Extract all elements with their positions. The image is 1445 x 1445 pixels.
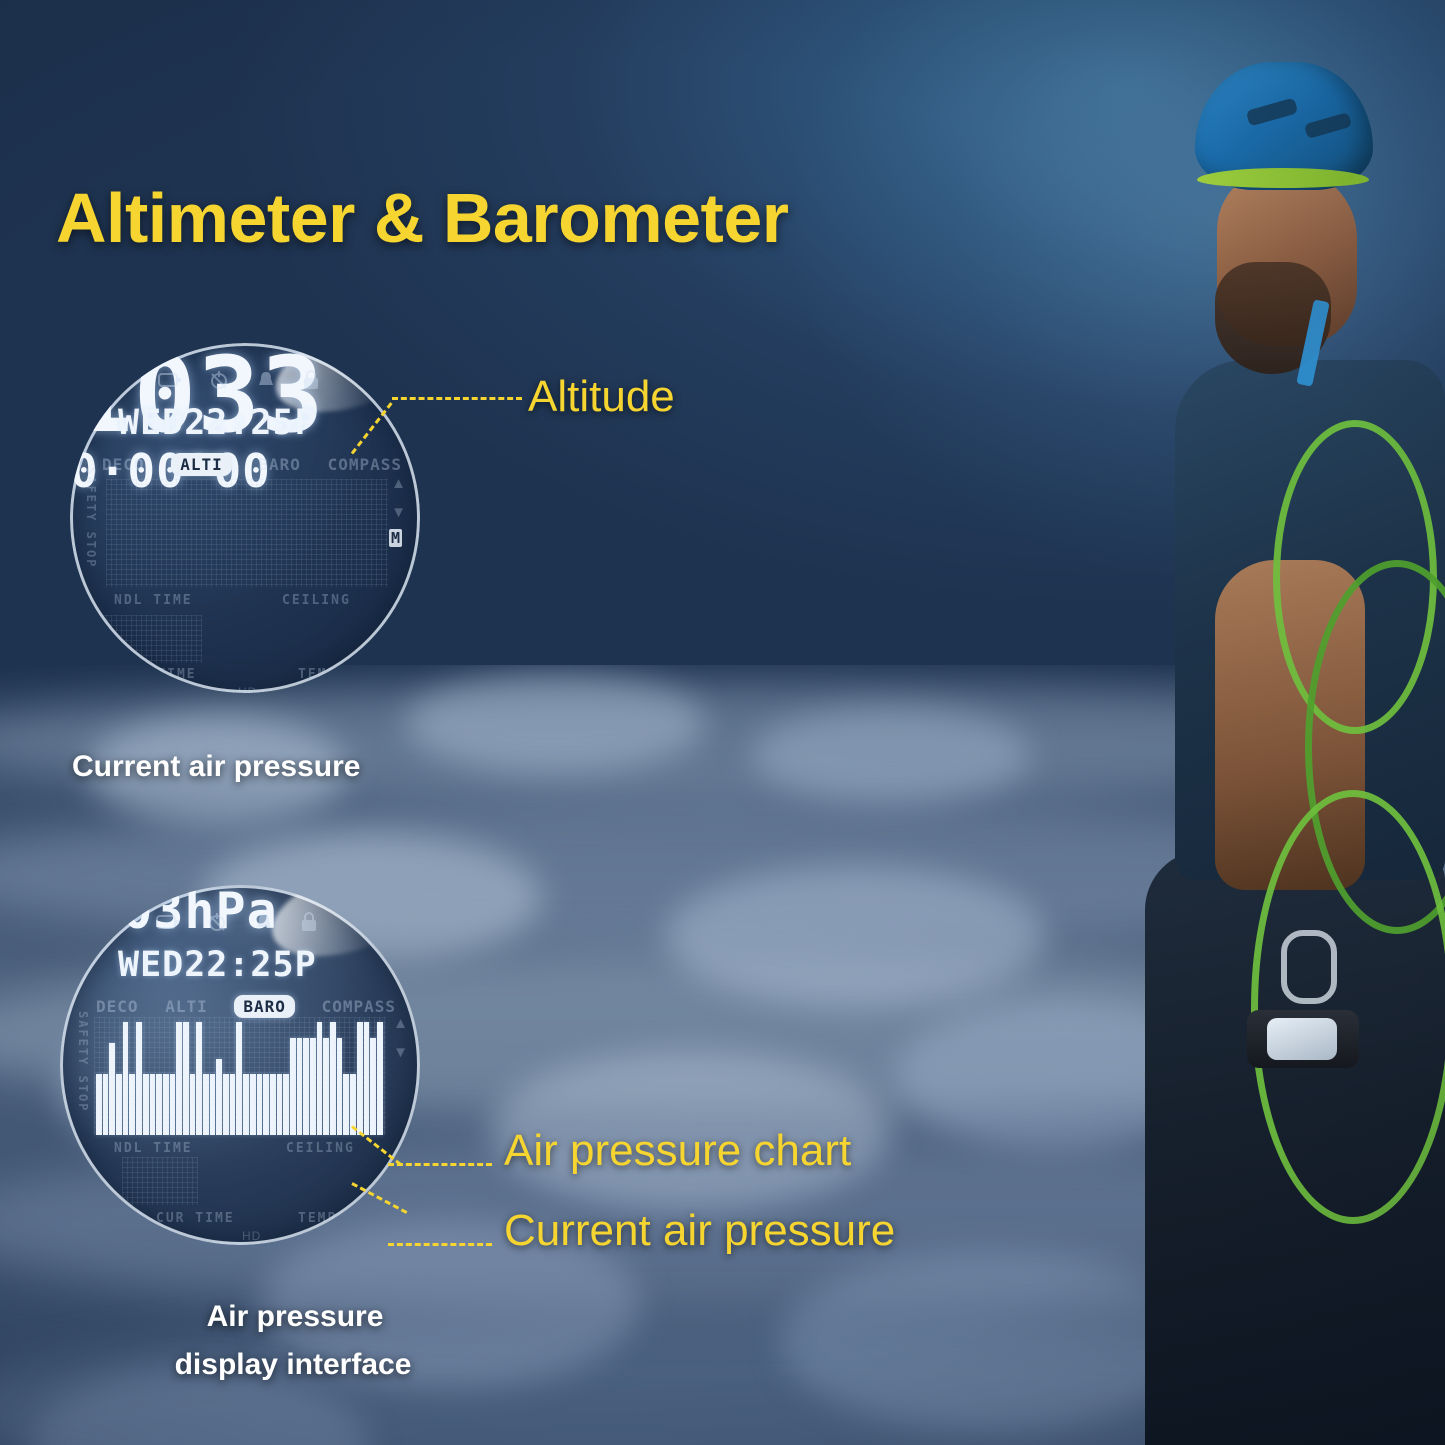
chart-bar: [216, 1059, 222, 1135]
lock-icon: [302, 369, 320, 395]
time-display: WED22:25P: [118, 403, 317, 443]
caption-air-pressure-interface-line1: Air pressure: [150, 1300, 440, 1334]
arrow-down-icon: ▼: [391, 504, 406, 521]
time-display: WED22:25P: [118, 945, 317, 985]
arrow-up-icon: ▲: [391, 475, 406, 492]
chart-bar: [377, 1022, 383, 1135]
caption-air-pressure-interface-line2: display interface: [118, 1348, 468, 1382]
alarm-bell-icon: [254, 912, 274, 937]
mode-deco[interactable]: DECO: [96, 997, 139, 1016]
lcd-matrix-area-lower: [122, 1157, 198, 1205]
chart-bar: [123, 1022, 129, 1135]
status-icon-row: [158, 369, 320, 395]
chart-bar: [364, 1022, 370, 1135]
chart-bar: [330, 1022, 336, 1135]
mode-baro[interactable]: BARO: [258, 455, 301, 474]
altitude-unit: M: [389, 529, 402, 547]
page-title: Altimeter & Barometer: [56, 178, 789, 258]
carabiner-icon: [1281, 930, 1337, 1004]
label-ndl-time: NDL TIME: [114, 593, 193, 608]
chart-bar: [297, 1038, 303, 1135]
chart-bar: [96, 1074, 102, 1135]
climber-photo: [1155, 0, 1445, 1445]
chart-bar: [250, 1074, 256, 1135]
chart-bar: [116, 1074, 122, 1135]
climbing-rope: [1251, 790, 1445, 1224]
lcd-matrix-area: [106, 479, 388, 587]
air-pressure-chart: [96, 1017, 384, 1135]
chart-bar: [190, 1074, 196, 1135]
mode-row: DECO ALTI BARO COMPASS: [96, 995, 396, 1018]
label-ceiling: CEILING: [286, 1141, 355, 1156]
chart-bar: [103, 1074, 109, 1135]
chart-bar: [230, 1074, 236, 1135]
label-cur-time: CUR TIME: [118, 667, 197, 682]
label-temp: TEMP: [298, 1211, 337, 1226]
chart-bar: [263, 1074, 269, 1135]
caption-current-air-pressure: Current air pressure: [72, 750, 360, 784]
mode-baro[interactable]: BARO: [234, 995, 295, 1018]
leader-line-altitude: [392, 397, 522, 400]
chart-bar: [323, 1038, 329, 1135]
chart-bar: [170, 1074, 176, 1135]
arrow-up-icon: ▲: [393, 1015, 408, 1032]
mode-compass[interactable]: COMPASS: [322, 997, 396, 1016]
mode-row: DECO ALTI BARO COMPASS: [102, 453, 402, 476]
label-ceiling: CEILING: [282, 593, 351, 608]
watch-brand: HD: [242, 1229, 261, 1243]
chart-bar: [129, 1074, 135, 1135]
sync-icon: [208, 370, 230, 395]
chart-bar: [277, 1074, 283, 1135]
lcd-matrix-area-lower: [96, 615, 202, 663]
chart-bar: [257, 1074, 263, 1135]
chart-bar: [163, 1074, 169, 1135]
product-marketing-image: Altimeter & Barometer WED: [0, 0, 1445, 1445]
sync-icon: [206, 912, 228, 937]
chart-bar: [343, 1074, 349, 1135]
arrow-down-icon: ▼: [393, 1044, 408, 1061]
callout-altitude: Altitude: [528, 372, 675, 422]
trend-arrows: ▲ ▼: [393, 1015, 408, 1061]
helmet-rim: [1197, 168, 1369, 188]
battery-icon: [156, 915, 180, 934]
chart-bar: [270, 1074, 276, 1135]
altimeter-lcd: WED22:25P DECO ALTI BARO COMPASS 1033 M …: [70, 343, 420, 693]
chart-bar: [136, 1022, 142, 1135]
chart-bar: [283, 1074, 289, 1135]
chart-bar: [176, 1022, 182, 1135]
altimeter-watch: WED22:25P DECO ALTI BARO COMPASS 1033 M …: [70, 343, 420, 693]
mode-deco[interactable]: DECO: [102, 455, 145, 474]
chart-bar: [290, 1038, 296, 1135]
mode-compass[interactable]: COMPASS: [328, 455, 402, 474]
chart-bar: [223, 1074, 229, 1135]
watch-brand: HD: [238, 685, 257, 693]
chart-bar: [183, 1022, 189, 1135]
chart-bar: [109, 1043, 115, 1135]
chart-bar: [210, 1074, 216, 1135]
chart-bar: [317, 1022, 323, 1135]
chart-bar: [370, 1038, 376, 1135]
callout-current-air-pressure: Current air pressure: [504, 1206, 895, 1256]
leader-line-pressure: [388, 1243, 492, 1246]
chart-bar: [196, 1022, 202, 1135]
mode-alti[interactable]: ALTI: [165, 997, 208, 1016]
lock-icon: [300, 911, 318, 937]
chart-bar: [236, 1022, 242, 1135]
status-icon-row: [156, 911, 318, 937]
mode-alti[interactable]: ALTI: [171, 453, 232, 476]
chart-bar: [303, 1038, 309, 1135]
chart-bar: [243, 1074, 249, 1135]
callout-air-pressure-chart: Air pressure chart: [504, 1126, 851, 1176]
label-ndl-time: NDL TIME: [114, 1141, 193, 1156]
label-temp: TEMP: [298, 667, 337, 682]
leader-line-chart: [388, 1163, 492, 1166]
chart-bar: [143, 1074, 149, 1135]
chart-bar: [357, 1022, 363, 1135]
chart-bar: [156, 1074, 162, 1135]
label-safety-stop: SAFETY STOP: [76, 1011, 90, 1131]
chart-bar: [150, 1074, 156, 1135]
chart-bar: [337, 1038, 343, 1135]
label-cur-time: CUR TIME: [156, 1211, 235, 1226]
alarm-bell-icon: [256, 370, 276, 395]
chart-bar: [203, 1074, 209, 1135]
battery-icon: [158, 373, 182, 392]
wrist-watch-face: [1267, 1018, 1337, 1060]
label-safety-stop: SAFETY STOP: [84, 467, 98, 587]
chart-bar: [310, 1038, 316, 1135]
trend-arrows: ▲ ▼: [391, 475, 406, 521]
